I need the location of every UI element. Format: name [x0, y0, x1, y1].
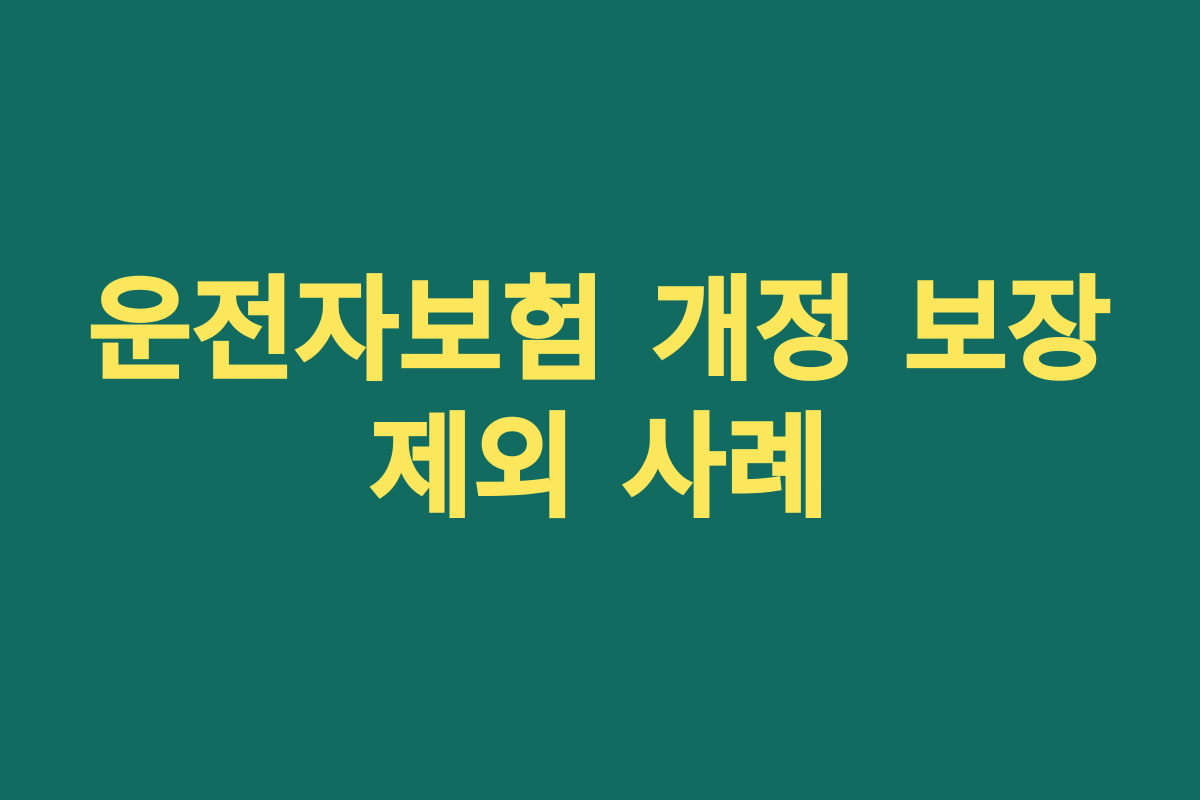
page-title: 운전자보험 개정 보장 제외 사례	[70, 263, 1130, 536]
poster-canvas: 운전자보험 개정 보장 제외 사례	[0, 0, 1200, 800]
title-block: 운전자보험 개정 보장 제외 사례	[70, 263, 1130, 536]
